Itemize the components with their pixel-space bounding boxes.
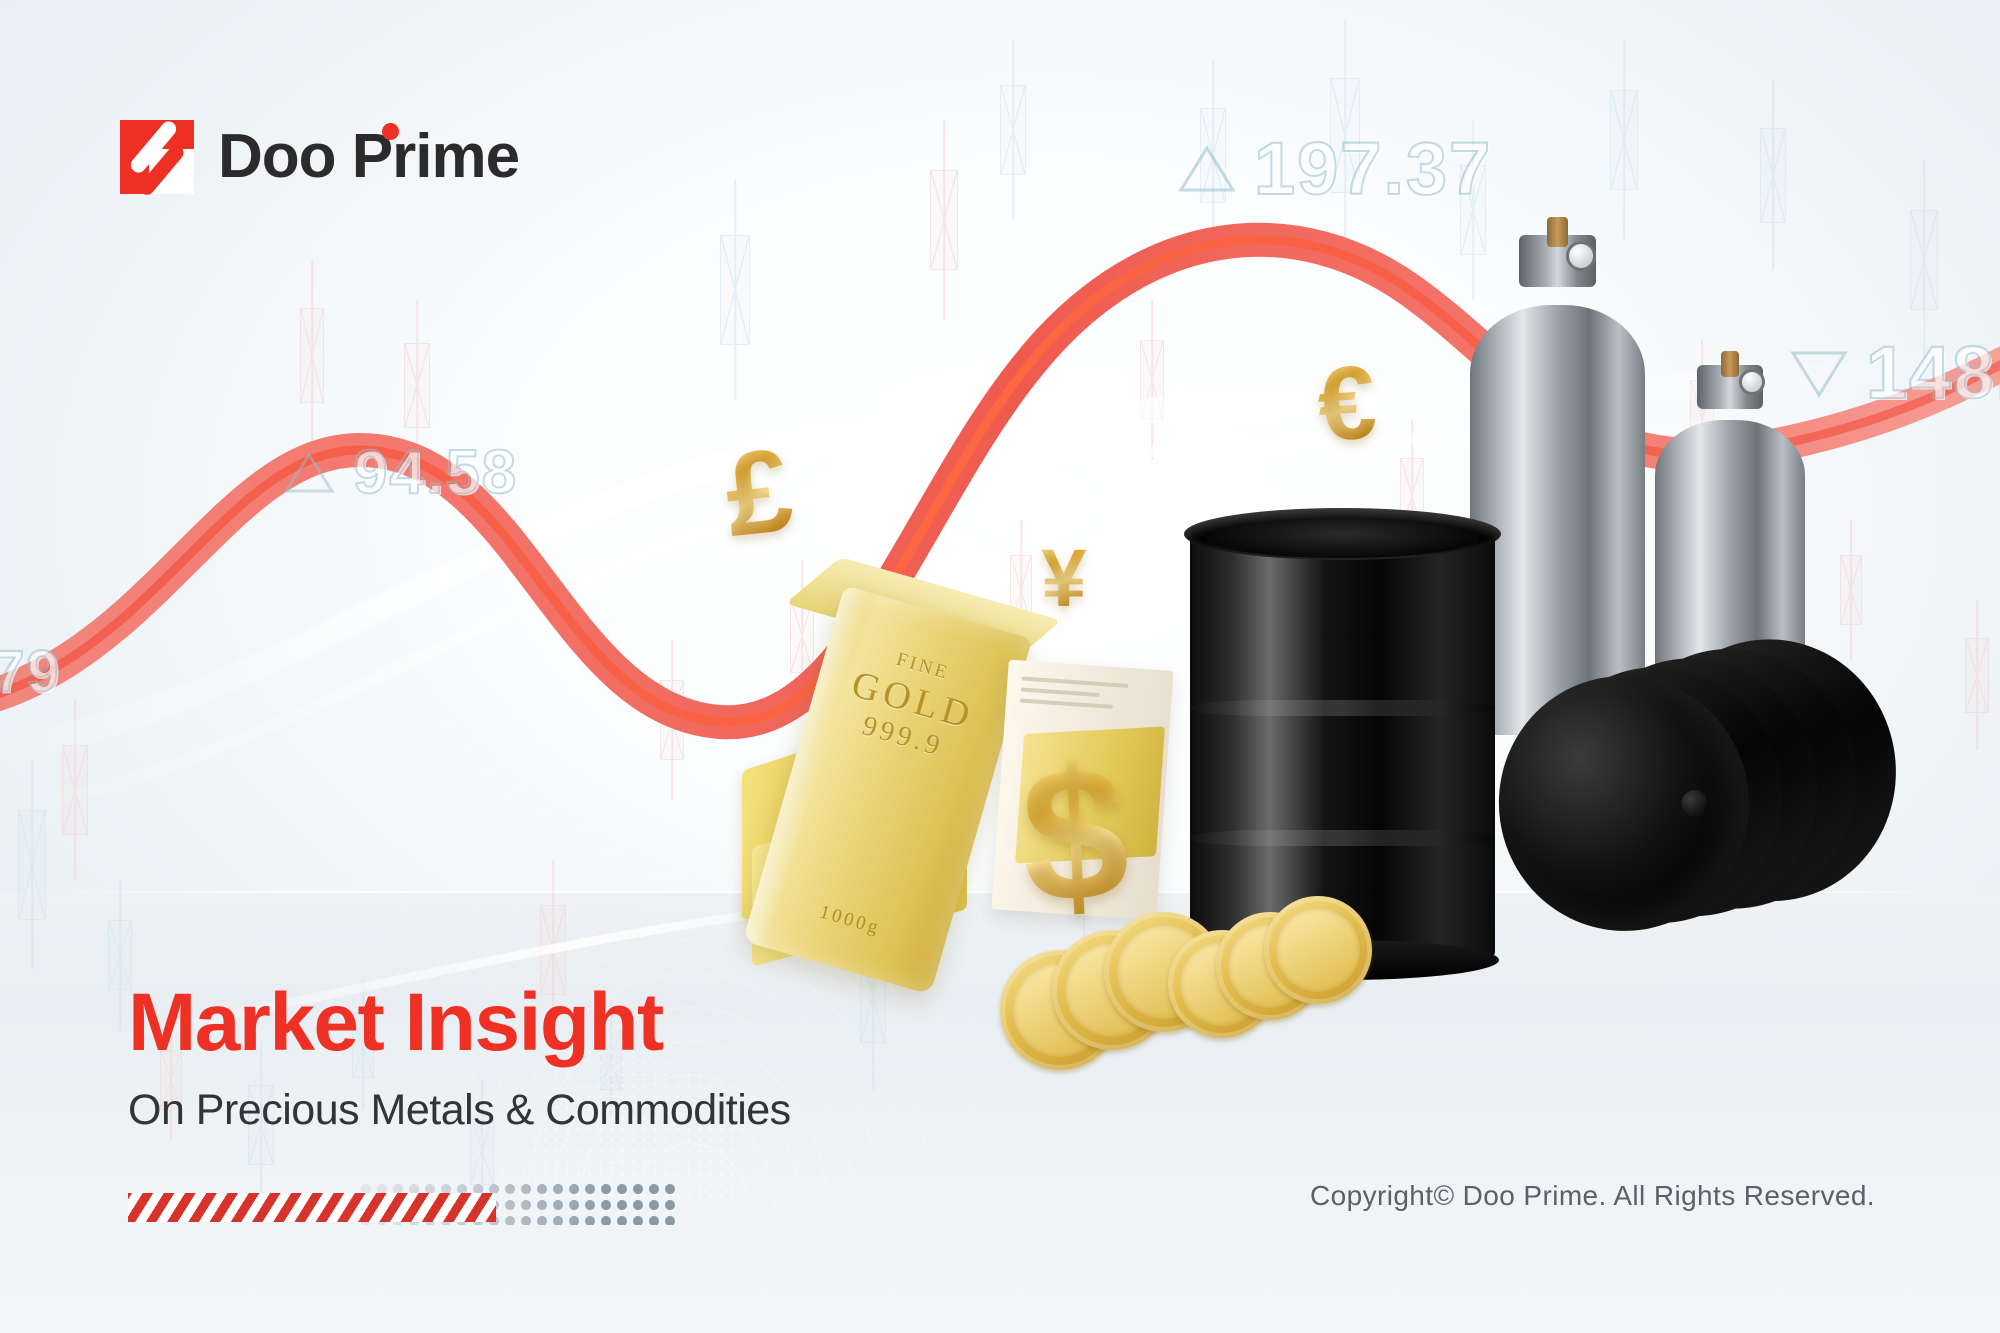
triangle-up-icon — [1178, 144, 1236, 194]
striped-bar — [128, 1193, 496, 1222]
ghost-ticker-94: 94.58 — [283, 437, 518, 508]
doo-prime-logo-mark-icon — [120, 120, 194, 194]
euro-symbol-icon: € — [1314, 350, 1379, 458]
triangle-up-icon — [283, 451, 335, 495]
brand-name: Doo Prime — [218, 126, 519, 188]
yen-symbol-icon: ¥ — [1041, 538, 1087, 620]
dollar-symbol-icon: $ — [1017, 737, 1132, 932]
page-subtitle: On Precious Metals & Commodities — [128, 1086, 791, 1135]
ghost-ticker-value: .79 — [0, 638, 61, 705]
brand-logo[interactable]: Doo Prime — [120, 120, 519, 194]
gold-coin — [1264, 896, 1372, 1004]
oil-drum-stack — [1479, 612, 1941, 997]
ghost-ticker-179: .79 — [0, 638, 61, 705]
page-title: Market Insight — [128, 982, 791, 1064]
copyright-text: Copyright© Doo Prime. All Rights Reserve… — [1310, 1180, 1875, 1212]
ghost-ticker-value: 148.48 — [1866, 330, 2000, 415]
ghost-ticker-148: 148.48 — [1790, 330, 2000, 415]
pressure-gauge-icon — [1739, 369, 1765, 395]
footer-decoration — [128, 1183, 673, 1223]
ghost-ticker-value: 94.58 — [353, 437, 518, 508]
market-insight-banner: 197.37 148.48 94.58 .79 Doo Prime — [0, 0, 2000, 1333]
brand-name-text: Doo Prime — [218, 122, 519, 191]
pressure-gauge-icon — [1566, 241, 1596, 271]
logo-i-dot-icon — [382, 123, 399, 140]
headline-block: Market Insight On Precious Metals & Comm… — [128, 982, 791, 1135]
pound-symbol-icon: £ — [720, 431, 798, 555]
ghost-ticker-value: 197.37 — [1254, 126, 1492, 211]
ghost-ticker-197: 197.37 — [1178, 126, 1492, 211]
